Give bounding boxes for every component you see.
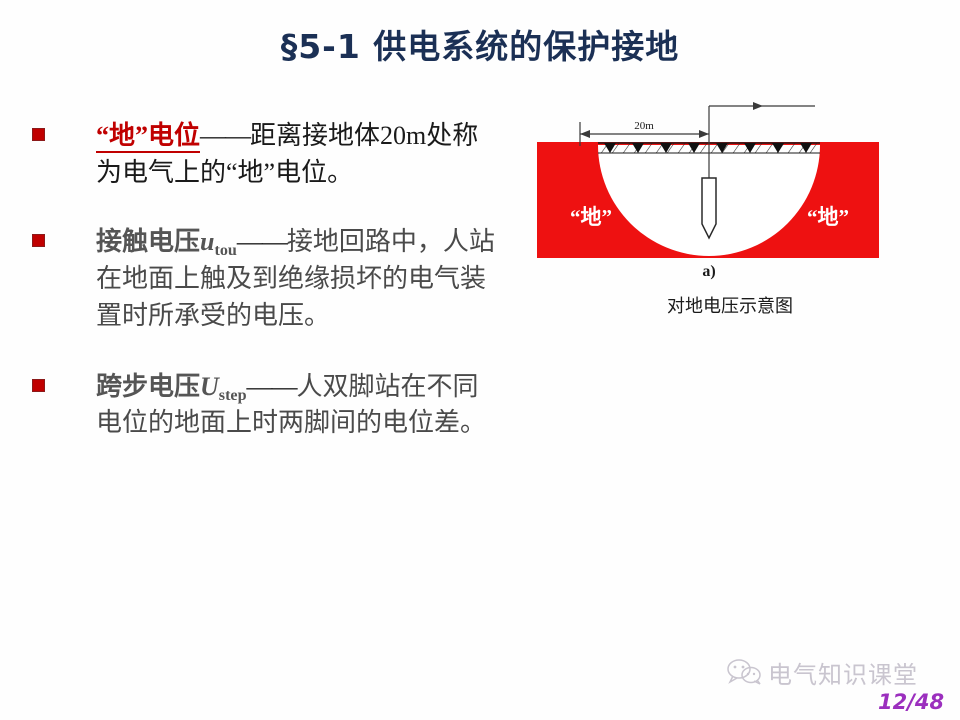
page-title: §5-1 供电系统的保护接地 [0, 20, 960, 68]
wechat-icon [726, 658, 762, 686]
watermark-text: 电气知识课堂 [768, 655, 918, 690]
term-prefix-3: 跨步电压 [96, 372, 200, 401]
bullet-text-1: “地”电位——距离接地体20m处称为电气上的“地”电位。 [96, 118, 504, 192]
red-square-bullet-icon [32, 234, 45, 247]
page-number: 12/48 [878, 690, 944, 714]
term-subscript-2: tou [214, 242, 236, 259]
term-label-3: 跨步电压Ustep [96, 372, 247, 401]
ground-label-left: “地” [570, 205, 612, 229]
slide-canvas: §5-1 供电系统的保护接地 “地”电位——距离接地体20m处称为电气上的“地”… [0, 0, 960, 720]
red-square-bullet-icon [32, 128, 45, 141]
bullet-list: “地”电位——距离接地体20m处称为电气上的“地”电位。 接触电压utou——接… [24, 118, 504, 468]
list-item: 接触电压utou——接地回路中，人站在地面上触及到绝缘损坏的电气装置时所承受的电… [24, 224, 504, 335]
term-symbol-2: u [200, 227, 214, 256]
dash-2: —— [237, 227, 287, 256]
diagram-svg: 20m “地” “地” a) [520, 96, 940, 296]
earth-voltage-diagram: 20m “地” “地” a) 对地电压示意图 [520, 96, 940, 326]
term-subscript-3: step [219, 387, 247, 404]
term-prefix-2: 接触电压 [96, 227, 200, 256]
term-label-2: 接触电压utou [96, 227, 237, 256]
dimension-label-20m: 20m [634, 120, 654, 132]
ground-label-right: “地” [807, 205, 849, 229]
watermark: 电气知识课堂 [726, 652, 926, 692]
red-square-bullet-icon [32, 379, 45, 392]
list-item: 跨步电压Ustep——人双脚站在不同电位的地面上时两脚间的电位差。 [24, 369, 504, 443]
term-symbol-3: U [200, 372, 219, 401]
dash-1: —— [200, 121, 250, 150]
bullet-text-3: 跨步电压Ustep——人双脚站在不同电位的地面上时两脚间的电位差。 [96, 369, 504, 443]
dash-3: —— [247, 372, 297, 401]
term-label-1: “地”电位 [96, 121, 200, 153]
figure-caption: 对地电压示意图 [520, 292, 940, 318]
figure-sub-label: a) [702, 263, 715, 280]
right-extension-arrow [709, 102, 815, 110]
bullet-text-2: 接触电压utou——接地回路中，人站在地面上触及到绝缘损坏的电气装置时所承受的电… [96, 224, 504, 335]
ground-electrode-rod [702, 178, 716, 238]
list-item: “地”电位——距离接地体20m处称为电气上的“地”电位。 [24, 118, 504, 192]
